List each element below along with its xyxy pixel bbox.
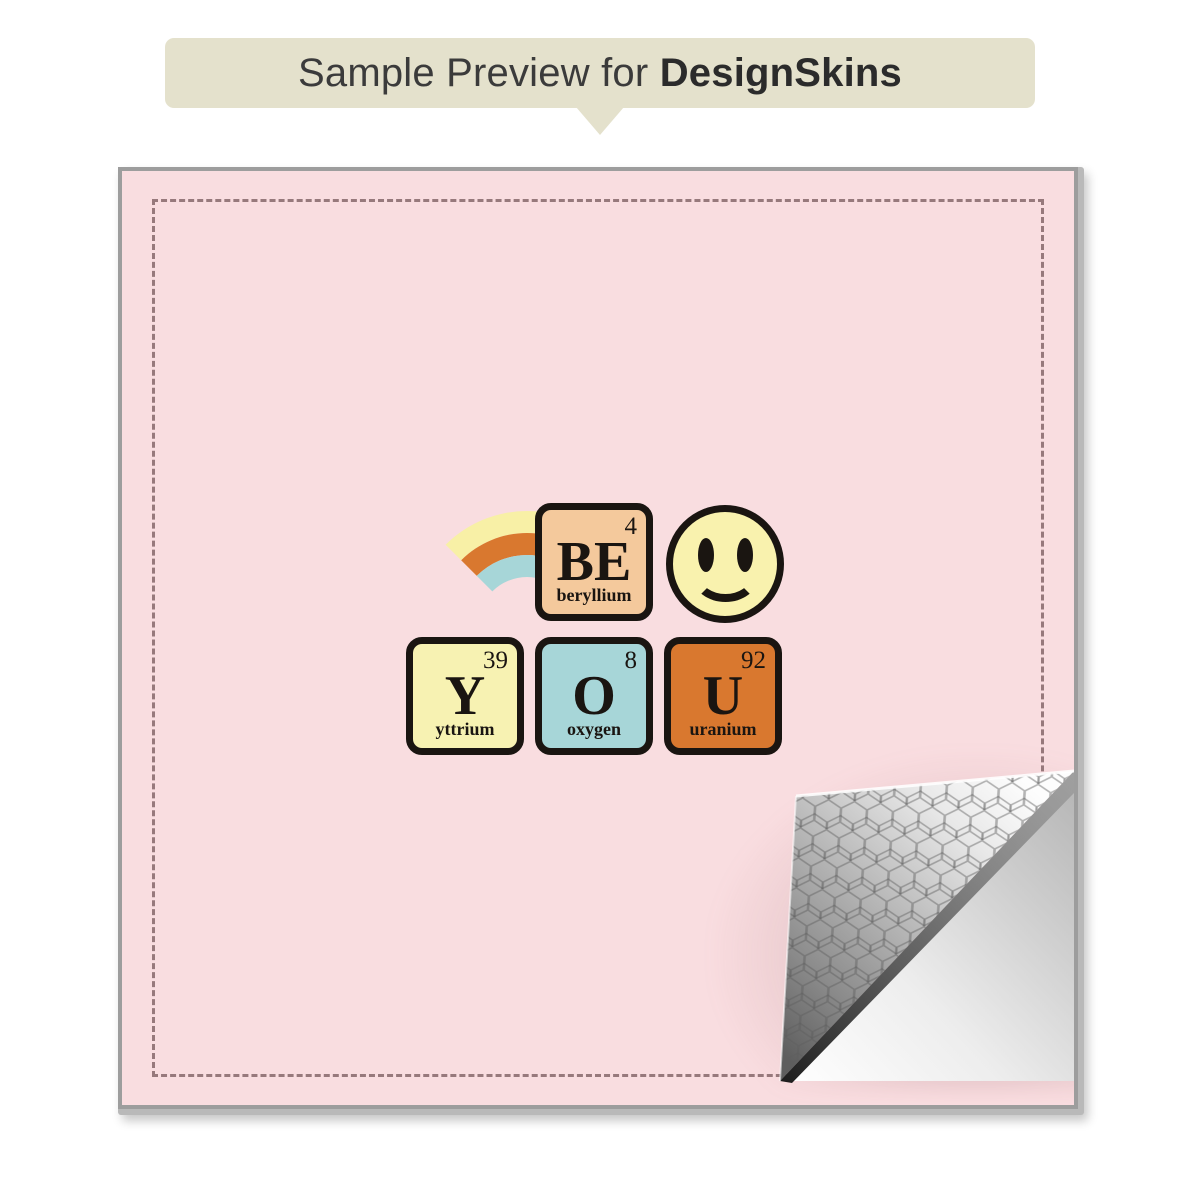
smiley-mouth [693, 552, 758, 602]
element-name: beryllium [542, 585, 646, 606]
element-name: oxygen [542, 719, 646, 740]
element-symbol: O [542, 668, 646, 724]
element-name: yttrium [413, 719, 517, 740]
element-symbol: BE [542, 534, 646, 590]
artwork-be-you: 4 BE beryllium 39 Y yttrium 8 O oxygen 9… [404, 489, 794, 779]
rainbow-icon [412, 511, 537, 636]
element-name: uranium [671, 719, 775, 740]
element-tile-oxygen: 8 O oxygen [535, 637, 653, 755]
element-tile-yttrium: 39 Y yttrium [406, 637, 524, 755]
element-symbol: Y [413, 668, 517, 724]
banner-title: Sample Preview for DesignSkins [298, 51, 902, 96]
element-tile-uranium: 92 U uranium [664, 637, 782, 755]
banner-title-normal: Sample Preview for [298, 51, 660, 95]
preview-banner: Sample Preview for DesignSkins [165, 38, 1035, 108]
banner-body: Sample Preview for DesignSkins [165, 38, 1035, 108]
peel-cast-shadow [712, 751, 1078, 1091]
banner-title-brand: DesignSkins [660, 51, 902, 95]
smiley-face-icon [666, 505, 784, 623]
sticker-sheet: 4 BE beryllium 39 Y yttrium 8 O oxygen 9… [118, 167, 1078, 1109]
element-tile-beryllium: 4 BE beryllium [535, 503, 653, 621]
element-symbol: U [671, 668, 775, 724]
banner-tail-icon [576, 107, 624, 135]
